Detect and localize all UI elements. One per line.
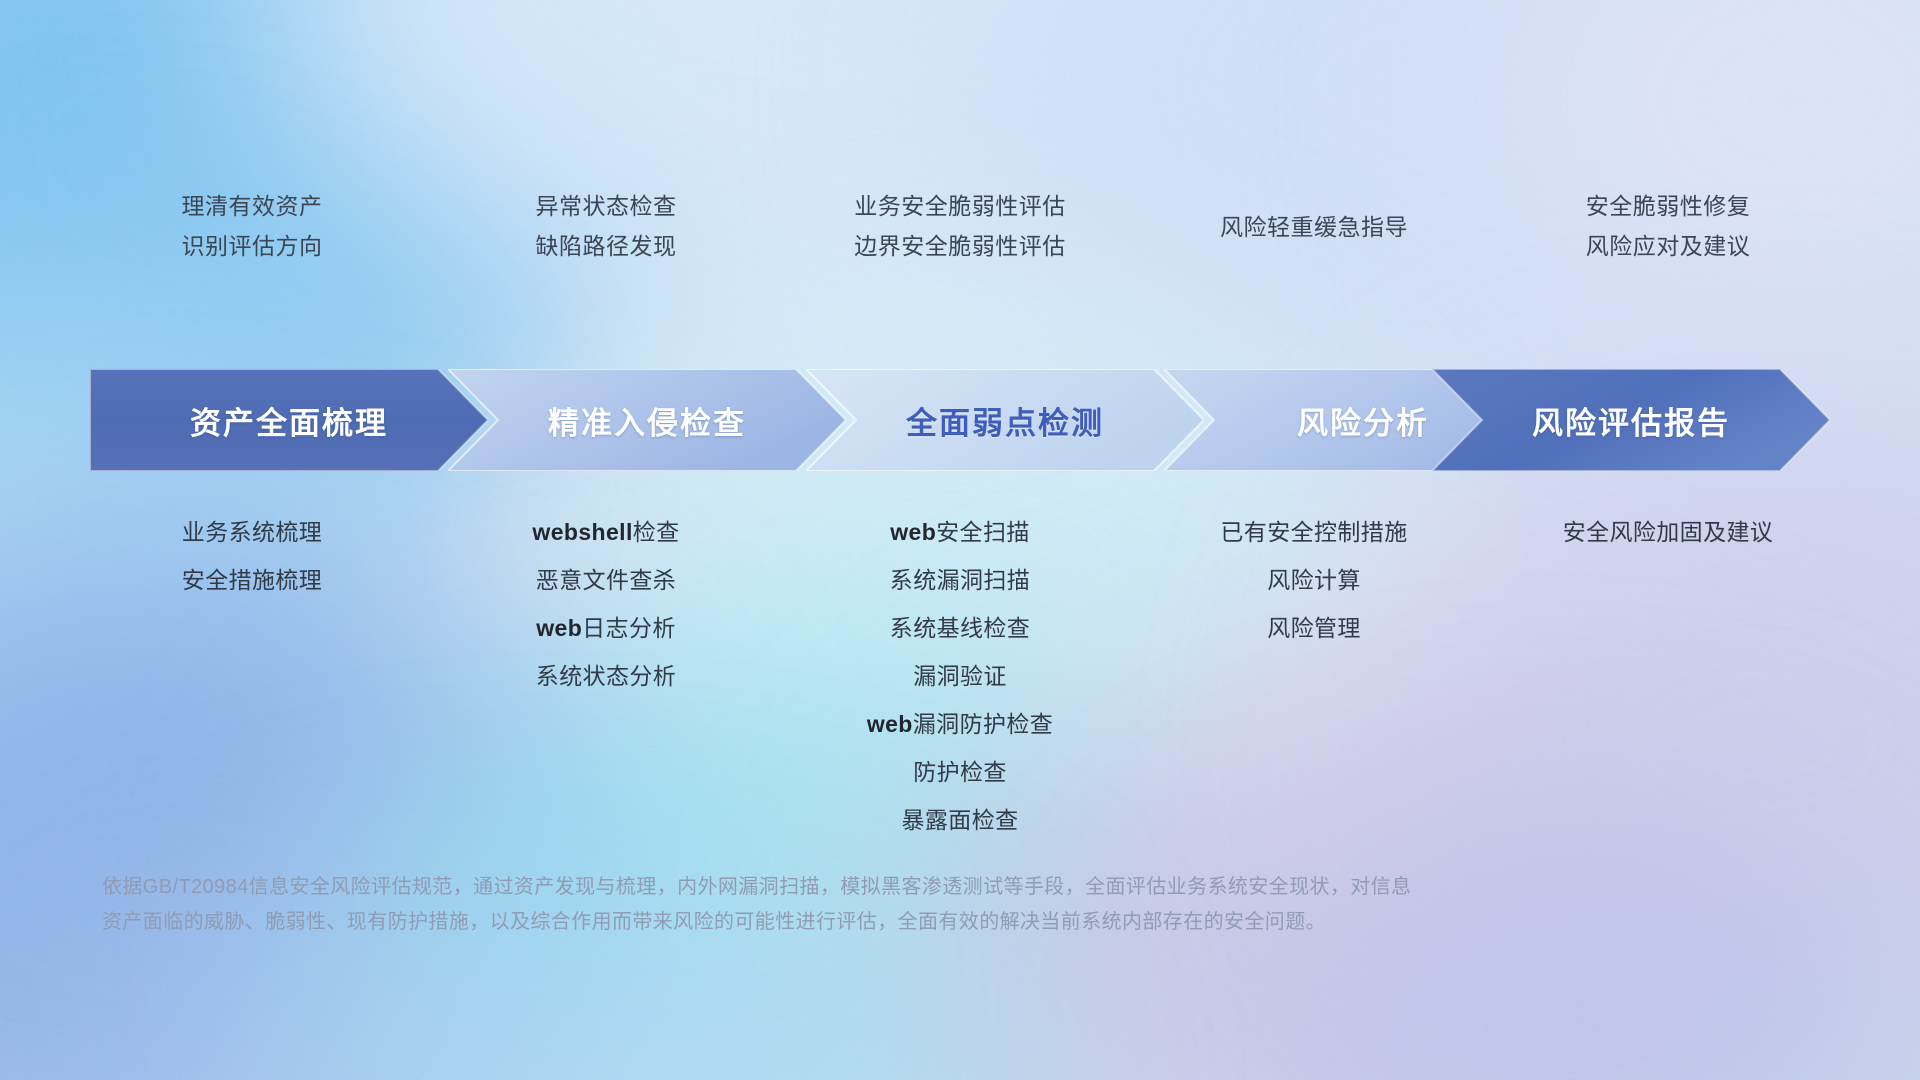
detail-item: 风险计算 [1167, 556, 1461, 604]
stage-label: 风险评估报告 [1532, 398, 1730, 443]
detail-col-4: 已有安全控制措施 风险计算 风险管理 [1167, 508, 1461, 652]
top-note-col-4: 风险轻重缓急指导 [1167, 186, 1461, 266]
footer-line-2: 资产面临的威胁、脆弱性、现有防护措施，以及综合作用而带来风险的可能性进行评估，全… [102, 905, 1662, 940]
top-note-line: 缺陷路径发现 [459, 226, 753, 266]
stage-label: 精准入侵检查 [548, 398, 746, 443]
detail-item: 恶意文件查杀 [459, 556, 753, 604]
detail-item: 安全措施梳理 [105, 556, 399, 604]
detail-item: 系统基线检查 [813, 604, 1107, 652]
detail-item: 安全风险加固及建议 [1521, 508, 1815, 556]
detail-item: 系统漏洞扫描 [813, 556, 1107, 604]
footer-line-1: 依据GB/T20984信息安全风险评估规范，通过资产发现与梳理，内外网漏洞扫描，… [102, 870, 1662, 905]
top-note-line: 识别评估方向 [105, 226, 399, 266]
top-note-line: 异常状态检查 [459, 186, 753, 226]
footer-description: 依据GB/T20984信息安全风险评估规范，通过资产发现与梳理，内外网漏洞扫描，… [102, 870, 1662, 940]
top-note-col-3: 业务安全脆弱性评估 边界安全脆弱性评估 [813, 186, 1107, 266]
infographic-canvas: 理清有效资产 识别评估方向 异常状态检查 缺陷路径发现 业务安全脆弱性评估 边界… [0, 0, 1920, 1080]
detail-items-row: 业务系统梳理 安全措施梳理 webshell检查 恶意文件查杀 web日志分析 … [0, 508, 1920, 844]
stage-chevron-5[interactable]: 风险评估报告 [1432, 369, 1830, 471]
top-note-line: 风险轻重缓急指导 [1167, 207, 1461, 247]
detail-item: 暴露面检查 [813, 796, 1107, 844]
top-note-line: 理清有效资产 [105, 186, 399, 226]
top-note-col-5: 安全脆弱性修复 风险应对及建议 [1521, 186, 1815, 266]
detail-col-1: 业务系统梳理 安全措施梳理 [105, 508, 399, 604]
detail-item: 漏洞验证 [813, 652, 1107, 700]
detail-item: web漏洞防护检查 [813, 700, 1107, 748]
process-chevron-band: 资产全面梳理 精准入侵检查 [90, 369, 1830, 471]
top-note-col-2: 异常状态检查 缺陷路径发现 [459, 186, 753, 266]
detail-item: 防护检查 [813, 748, 1107, 796]
detail-col-2: webshell检查 恶意文件查杀 web日志分析 系统状态分析 [459, 508, 753, 700]
stage-chevron-1[interactable]: 资产全面梳理 [90, 369, 488, 471]
stage-label: 风险分析 [1297, 398, 1429, 443]
top-note-line: 安全脆弱性修复 [1521, 186, 1815, 226]
detail-item: webshell检查 [459, 508, 753, 556]
detail-item: web安全扫描 [813, 508, 1107, 556]
detail-item: 业务系统梳理 [105, 508, 399, 556]
top-note-line: 边界安全脆弱性评估 [813, 226, 1107, 266]
top-notes-row: 理清有效资产 识别评估方向 异常状态检查 缺陷路径发现 业务安全脆弱性评估 边界… [0, 186, 1920, 266]
top-note-line: 风险应对及建议 [1521, 226, 1815, 266]
stage-chevron-3[interactable]: 全面弱点检测 [806, 369, 1204, 471]
top-note-line: 业务安全脆弱性评估 [813, 186, 1107, 226]
stage-label: 资产全面梳理 [190, 398, 388, 443]
stage-label: 全面弱点检测 [906, 398, 1104, 443]
detail-col-5: 安全风险加固及建议 [1521, 508, 1815, 556]
top-note-col-1: 理清有效资产 识别评估方向 [105, 186, 399, 266]
stage-chevron-2[interactable]: 精准入侵检查 [448, 369, 846, 471]
detail-item: 系统状态分析 [459, 652, 753, 700]
detail-item: 已有安全控制措施 [1167, 508, 1461, 556]
detail-item: 风险管理 [1167, 604, 1461, 652]
detail-col-3: web安全扫描 系统漏洞扫描 系统基线检查 漏洞验证 web漏洞防护检查 防护检… [813, 508, 1107, 844]
detail-item: web日志分析 [459, 604, 753, 652]
